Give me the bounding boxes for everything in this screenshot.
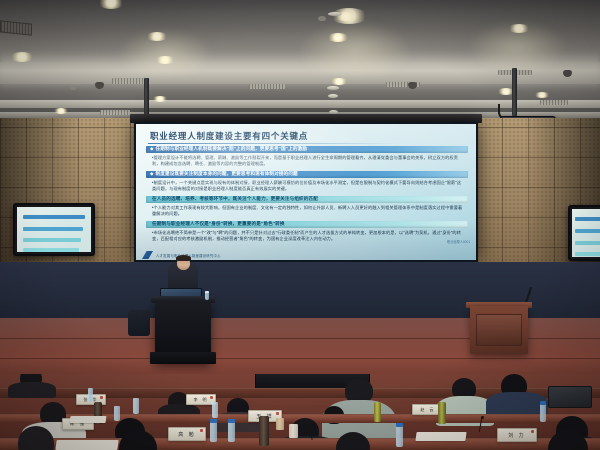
name-placard: 高 勉 [168, 427, 206, 441]
stage-chair [128, 310, 150, 336]
paper-cup [289, 424, 298, 438]
water-bottle [114, 406, 120, 421]
display-bar [23, 238, 81, 242]
left-wall-display-screen [17, 207, 91, 252]
lectern-front-panel [476, 314, 522, 346]
slide-section-body: •管理方案设计不能将选聘、管理、薪酬、激励等工作割裂开来，而是基于职业经理人进行… [146, 153, 468, 170]
thermos-flask [438, 402, 446, 424]
slide-section-header-bar: ◆ 任期制与职业经理人机制既要解决"刚"上的问题，更要思考"国"上的激励 [146, 146, 468, 153]
slide-section-header-bar: ◆ 制度建设既要关注制度本身的问题，更要思考和现有体制对接的问题 [146, 171, 468, 178]
ceiling-light-pool [120, 30, 210, 78]
water-bottle [205, 291, 209, 300]
ceiling-downlight [10, 52, 34, 62]
document-paper [415, 432, 466, 441]
pendant-light [327, 86, 339, 90]
presentation-slide: 职业经理人制度建设主要有四个关键点 ◆ 任期制与职业经理人机制既要解决"刚"上的… [136, 124, 476, 260]
document-paper [55, 440, 118, 450]
slide-section: 任期制与职业经理人不仅是"身份"转换，更重要的是"角色"转换 •市场化选聘绝不简… [146, 221, 468, 245]
paper-cup [276, 418, 284, 430]
bottle-cap [210, 419, 217, 423]
speaker-hair [176, 255, 191, 261]
display-bar [575, 241, 600, 245]
ceiling-air-grille [540, 100, 568, 105]
water-bottle [88, 388, 93, 402]
slide-sections: ◆ 任期制与职业经理人机制既要解决"刚"上的问题，更要思考"国"上的激励 •管理… [146, 146, 468, 246]
pendant-light [328, 12, 342, 16]
laptop [548, 386, 592, 408]
document-paper [70, 416, 107, 423]
slide-section-header-bar: 在人员的选聘、培养、考核等环节中，既关注个人能力，更要关注与组织的匹配 [146, 196, 468, 203]
smoke-detector-icon [70, 86, 76, 90]
water-bottle [396, 426, 403, 447]
display-bar [575, 217, 600, 221]
smoke-detector-icon [318, 16, 326, 21]
slide-section-body: •个人能力对其工作表现有较大影响，但国有企业的制度、文化有一定的独特性，如何让外… [146, 203, 468, 220]
water-bottle [212, 402, 218, 418]
slide-section-heading: 制度建设既要关注制度本身的问题，更要思考和现有体制对接的问题 [155, 172, 297, 177]
audience-area: 高 勉 刘 力 王 祥 陈 强 李 明 张 华 赵 云 [0, 374, 600, 450]
ceiling-air-grille [249, 84, 285, 89]
right-wall-display-screen [572, 209, 600, 257]
bottle-cap [540, 401, 546, 405]
bottle-cap [228, 419, 235, 423]
slide-section-header-bar: 任期制与职业经理人不仅是"身份"转换，更重要的是"角色"转换 [146, 221, 468, 228]
slide-title-underline [148, 143, 398, 144]
wooden-lectern [470, 306, 528, 354]
right-wall-display [568, 205, 600, 261]
audience-shoulders [8, 382, 56, 398]
diamond-bullet-icon: ◆ [150, 147, 153, 152]
water-bottle [228, 422, 235, 442]
display-bar [23, 248, 79, 252]
ceiling [0, 0, 600, 128]
ceiling-downlight [534, 92, 550, 98]
slide-section-body: •市场化选聘绝不简单是一个"改"与"聘"的问题，并不只是针对过去"行政委任制"而… [146, 228, 468, 245]
ceiling-air-vent [0, 20, 32, 35]
name-placard: 刘 力 [497, 428, 537, 442]
ceiling-downlight [53, 108, 69, 114]
thermos-flask [374, 402, 381, 422]
slide-section-heading: 任期制与职业经理人不仅是"身份"转换，更重要的是"角色"转换 [152, 222, 285, 227]
slide-footer-note: 职业经理人0001 [447, 239, 470, 244]
display-bar [575, 252, 600, 256]
organization-logo-icon [142, 251, 153, 259]
slide-section-body: •制度设计中，一个关键点是实现与现有的体制对接，职业经理人薪酬可模仿的位价值及市… [146, 178, 468, 195]
auditorium-photo: 职业经理人制度建设主要有四个关键点 ◆ 任期制与职业经理人机制既要解决"刚"上的… [0, 0, 600, 450]
slide-section: ◆ 任期制与职业经理人机制既要解决"刚"上的问题，更要思考"国"上的激励 •管理… [146, 146, 468, 170]
ceiling-light-pool [300, 22, 410, 80]
desk-microphone-head [481, 416, 484, 419]
ceiling-light-pool [470, 22, 565, 74]
slide-section: 在人员的选聘、培养、考核等环节中，既关注个人能力，更要关注与组织的匹配 •个人能… [146, 196, 468, 220]
podium-base [150, 352, 216, 364]
floor-seam [0, 358, 600, 359]
left-wall-display [13, 203, 95, 256]
water-bottle [210, 422, 217, 442]
bottle-cap [396, 423, 403, 427]
diamond-bullet-icon: ◆ [150, 172, 153, 177]
water-bottle [133, 398, 139, 414]
thermos-flask [259, 416, 269, 446]
desk-microphone-head [307, 422, 310, 425]
display-bar [575, 229, 600, 233]
slide-section-heading: 任期制与职业经理人机制既要解决"刚"上的问题，更要思考"国"上的激励 [155, 147, 307, 152]
water-bottle [540, 404, 546, 422]
display-bar [23, 227, 83, 231]
display-bar [23, 215, 85, 219]
ceiling-air-grille [100, 110, 130, 115]
slide-section-heading: 在人员的选聘、培养、考核等环节中，既关注个人能力，更要关注与组织的匹配 [152, 197, 318, 202]
slide-title: 职业经理人制度建设主要有四个关键点 [150, 130, 466, 142]
slide-section: ◆ 制度建设既要关注制度本身的问题，更要思考和现有体制对接的问题 •制度设计中，… [146, 171, 468, 195]
projection-screen: 职业经理人制度建设主要有四个关键点 ◆ 任期制与职业经理人机制既要解决"刚"上的… [134, 122, 478, 262]
ceiling-downlight [152, 96, 168, 102]
ceiling-downlight [98, 0, 124, 9]
pendant-light [328, 94, 338, 98]
